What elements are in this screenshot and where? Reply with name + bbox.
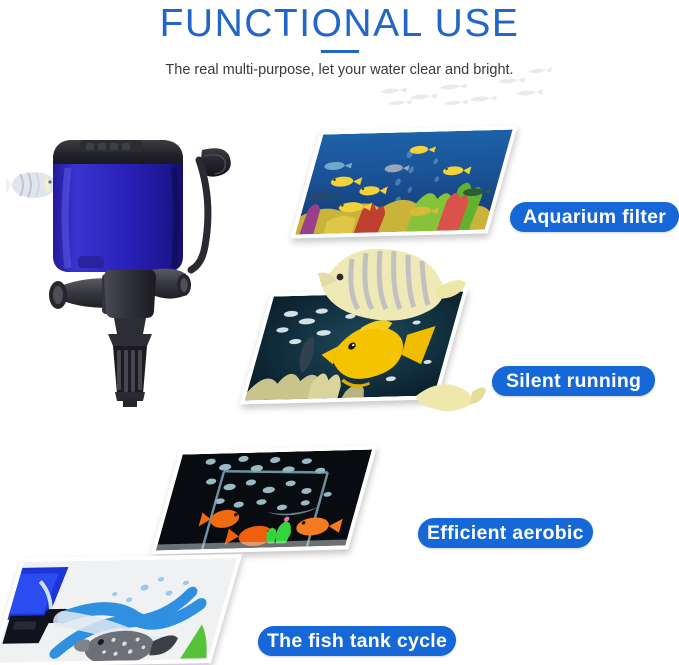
feature-photo-1 [290, 125, 518, 238]
page-subtitle: The real multi-purpose, let your water c… [0, 60, 679, 80]
title-divider [321, 50, 359, 53]
feature-photo-3 [151, 445, 378, 554]
yellow-tang-photo-icon [245, 292, 464, 401]
feature-badge-label: Efficient aerobic [427, 522, 584, 545]
feature-badge-fish-tank-cycle[interactable]: The fish tank cycle [257, 626, 457, 656]
product-image-pump [6, 112, 256, 407]
pump-bracket-arm [191, 160, 208, 270]
reef-aquarium-photo-icon [295, 130, 512, 235]
feature-badge-label: Aquarium filter [523, 206, 666, 229]
pump-body [53, 164, 183, 272]
page-title: FUNCTIONAL USE [0, 2, 679, 46]
pump-top-cap [53, 140, 183, 168]
pump-strainer-cage [108, 334, 152, 407]
feature-badge-label: The fish tank cycle [267, 630, 447, 653]
feature-badge-efficient-aerobic[interactable]: Efficient aerobic [417, 518, 594, 548]
decorative-angelfish [6, 172, 56, 199]
feature-badge-label: Silent running [506, 370, 641, 393]
pump-outlet-stub [150, 269, 191, 299]
aerated-tank-photo-icon [156, 450, 372, 551]
feature-photo-4 [0, 554, 242, 665]
feature-photo-2 [240, 287, 469, 404]
functional-use-infographic: FUNCTIONAL USE The real multi-purpose, l… [0, 0, 679, 665]
feature-badge-aquarium-filter[interactable]: Aquarium filter [509, 202, 679, 232]
feature-badge-silent-running[interactable]: Silent running [491, 366, 656, 396]
pump-housing [104, 270, 156, 334]
water-cycle-photo-icon [0, 558, 237, 663]
